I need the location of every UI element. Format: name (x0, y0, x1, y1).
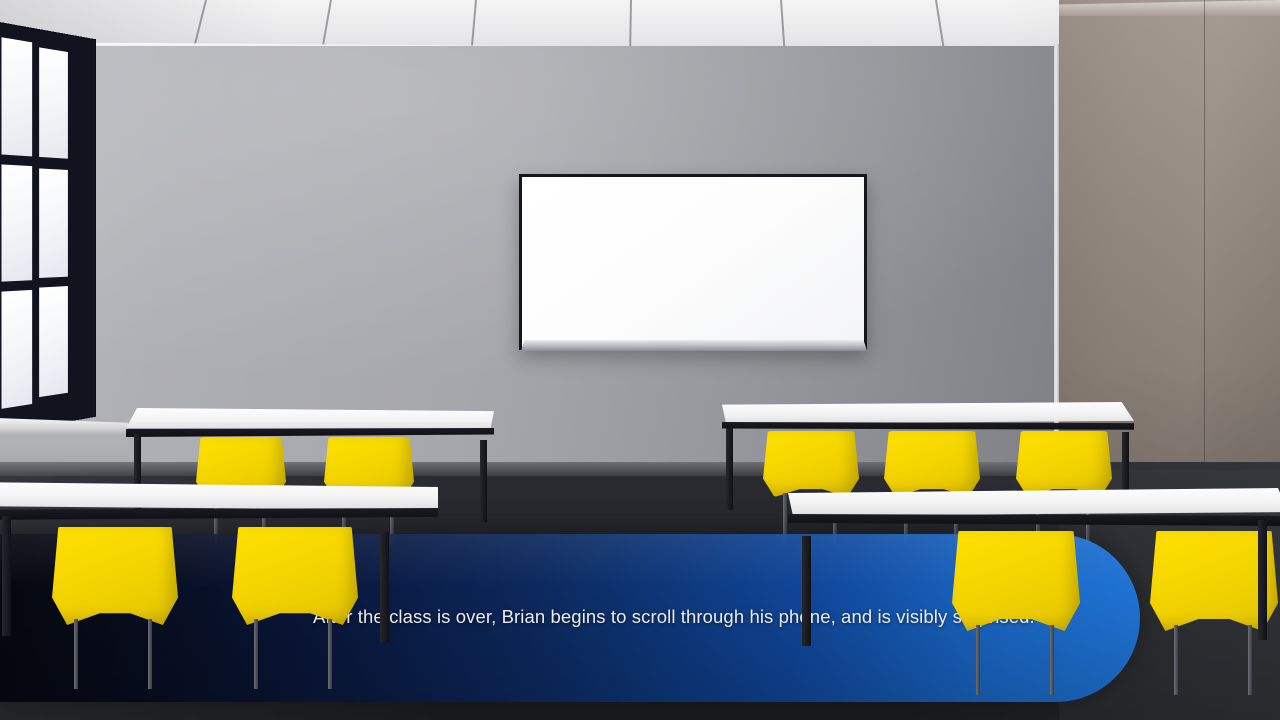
desk-surface (788, 488, 1280, 516)
desk-edge (0, 508, 438, 520)
desk-surface (0, 482, 438, 510)
whiteboard-surface (522, 177, 864, 347)
whiteboard[interactable] (519, 174, 867, 350)
whiteboard-ledge (521, 340, 867, 351)
desk-front-right[interactable] (788, 488, 1280, 620)
desk-surface (722, 402, 1134, 424)
chair-leg (328, 619, 332, 689)
desk-edge (788, 514, 1280, 526)
classroom-window (0, 22, 95, 434)
chair-leg (976, 625, 980, 695)
desk-edge (722, 422, 1134, 431)
window-pane (39, 47, 68, 158)
window-pane (1, 37, 32, 156)
chair-leg (1050, 625, 1054, 695)
desk-edge (126, 428, 494, 437)
desk-leg (1258, 520, 1267, 640)
window-pane (1, 164, 32, 281)
chair-leg (1174, 625, 1178, 695)
window-pane (1, 290, 32, 409)
right-wall-seam (1204, 0, 1205, 500)
desk-leg (726, 428, 733, 510)
chair-leg (148, 619, 152, 689)
desk-front-left[interactable] (0, 482, 438, 614)
chair-leg (1248, 625, 1252, 695)
desk-leg (802, 536, 811, 646)
desk-leg (2, 516, 11, 636)
window-pane (39, 168, 68, 278)
desk-leg (480, 440, 487, 522)
window-pane (39, 286, 68, 397)
scene-stage: After the class is over, Brian begins to… (0, 0, 1280, 720)
chair-leg (254, 619, 258, 689)
desk-leg (380, 532, 389, 642)
desk-surface (126, 408, 494, 430)
chair-leg (74, 619, 78, 689)
